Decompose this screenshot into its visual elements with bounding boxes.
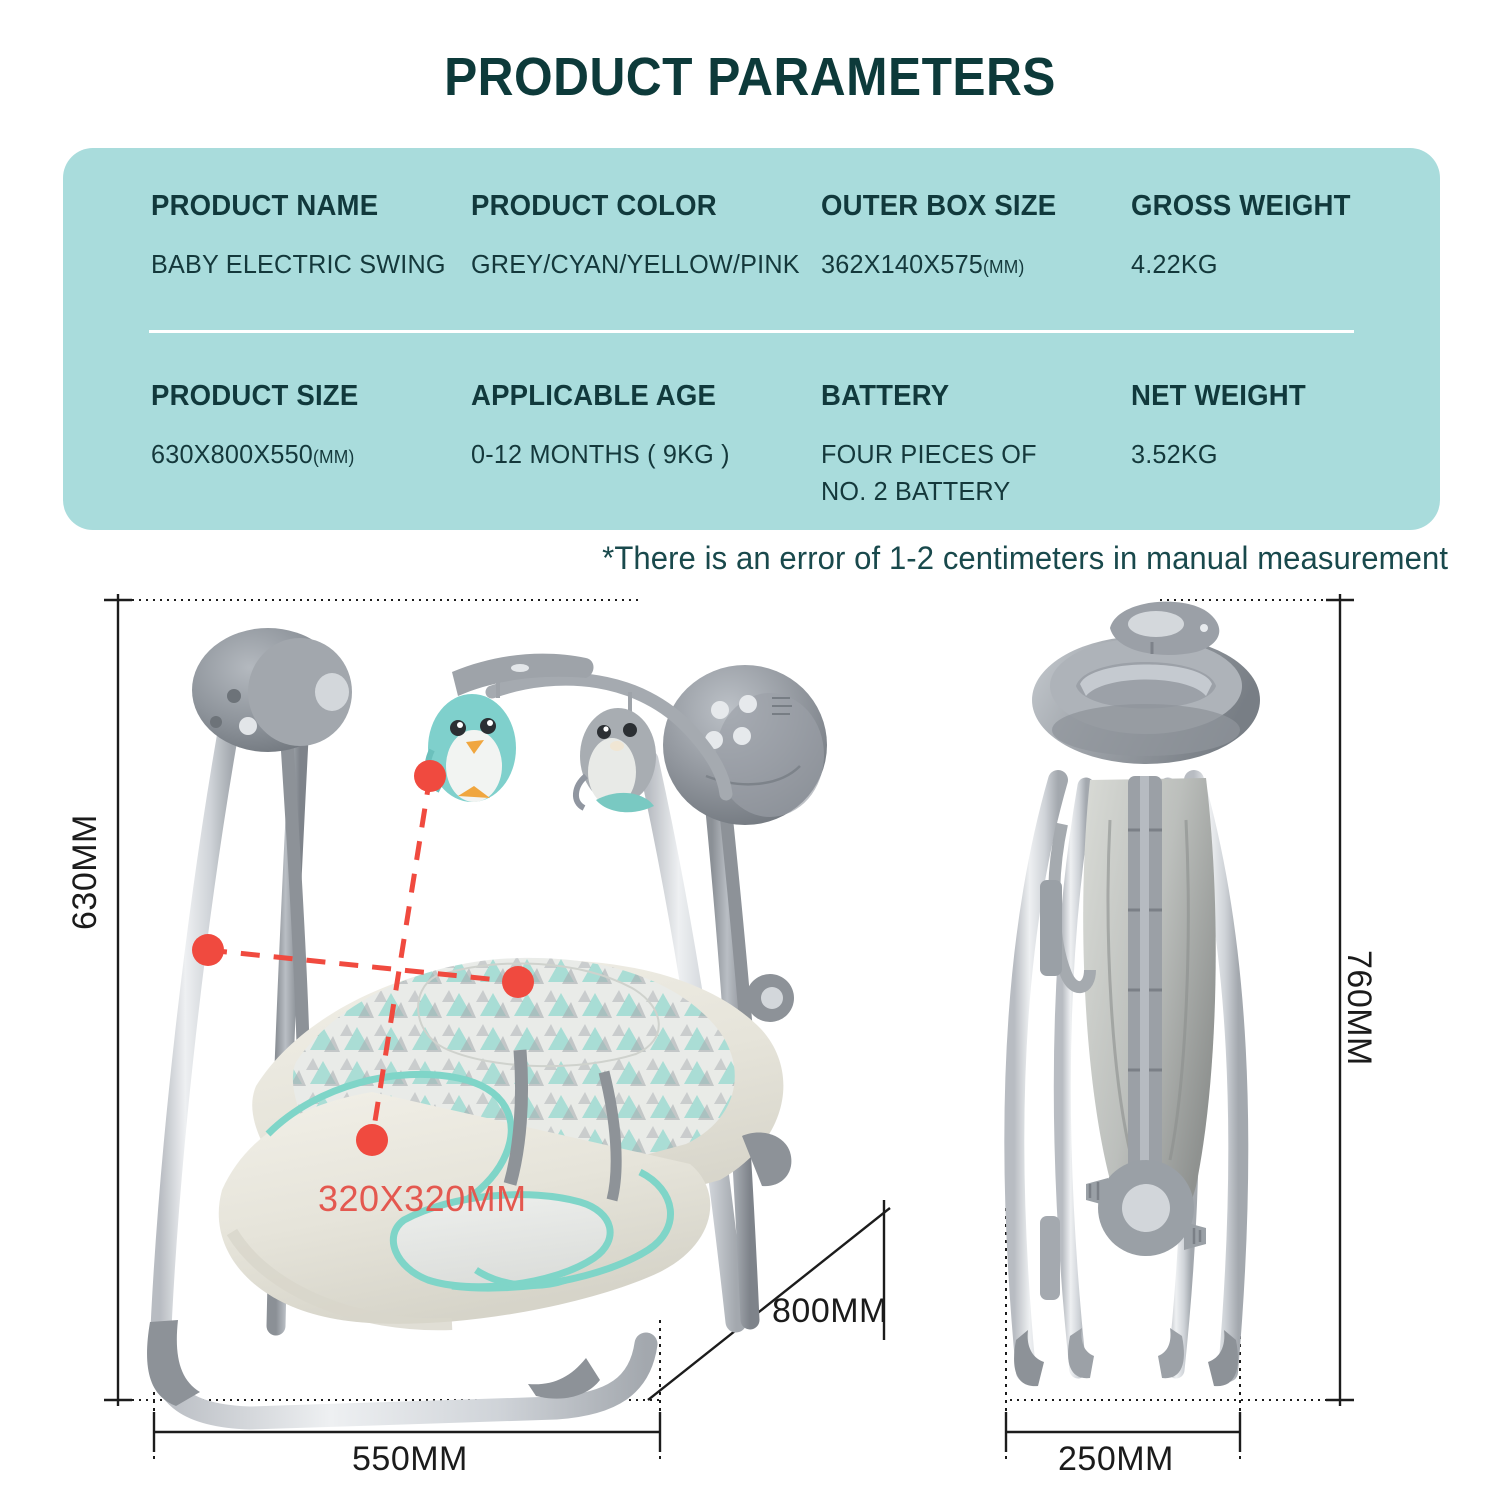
spec-header: PRODUCT SIZE — [151, 380, 455, 413]
product-diagram — [0, 580, 1500, 1500]
baby-swing-open-view — [147, 628, 827, 1418]
spec-cell-outer-box-size: OUTER BOX SIZE 362X140X575(MM) — [821, 190, 1131, 283]
spec-value: 4.22KG — [1131, 246, 1422, 283]
measure-point — [502, 966, 534, 998]
dimension-label-height-left: 630MM — [66, 814, 105, 930]
dimension-label-depth: 800MM — [772, 1292, 888, 1331]
spec-header: NET WEIGHT — [1131, 380, 1416, 413]
spec-header: OUTER BOX SIZE — [821, 190, 1116, 223]
spec-value: 0-12 MONTHS ( 9KG ) — [471, 436, 811, 473]
dimension-label-height-right: 760MM — [1339, 950, 1378, 1066]
spec-value: 630X800X550(MM) — [151, 436, 461, 473]
spec-header: GROSS WEIGHT — [1131, 190, 1416, 223]
spec-panel: PRODUCT NAME BABY ELECTRIC SWING PRODUCT… — [63, 148, 1440, 530]
spec-value: 3.52KG — [1131, 436, 1422, 473]
spec-value: GREY/CYAN/YELLOW/PINK — [471, 246, 811, 283]
right-motor-housing — [663, 665, 827, 825]
measure-point — [192, 934, 224, 966]
spec-value: BABY ELECTRIC SWING — [151, 246, 461, 283]
spec-value-line1: FOUR PIECES OF — [821, 436, 1122, 473]
measurement-disclaimer: *There is an error of 1-2 centimeters in… — [602, 540, 1448, 577]
dimension-label-width-left: 550MM — [352, 1440, 468, 1479]
spec-value: 362X140X575(MM) — [821, 246, 1122, 283]
spec-value: FOUR PIECES OF NO. 2 BATTERY — [821, 436, 1122, 510]
spec-header: PRODUCT NAME — [151, 190, 455, 223]
spec-cell-product-name: PRODUCT NAME BABY ELECTRIC SWING — [151, 190, 471, 283]
row-divider — [149, 330, 1354, 333]
spec-value-line2: NO. 2 BATTERY — [821, 473, 1122, 510]
folded-motor-pod — [1032, 636, 1260, 764]
dimension-label-width-right: 250MM — [1058, 1440, 1174, 1479]
spec-header: PRODUCT COLOR — [471, 190, 804, 223]
measure-point — [356, 1124, 388, 1156]
spec-unit: (MM) — [313, 447, 354, 467]
product-parameters-infographic: PRODUCT PARAMETERS PRODUCT NAME BABY ELE… — [0, 0, 1500, 1500]
spec-header: APPLICABLE AGE — [471, 380, 804, 413]
spec-cell-net-weight: NET WEIGHT 3.52KG — [1131, 380, 1431, 473]
measure-point — [414, 760, 446, 792]
spec-cell-gross-weight: GROSS WEIGHT 4.22KG — [1131, 190, 1431, 283]
spec-unit: (MM) — [983, 257, 1024, 277]
left-pivot-hub — [192, 628, 352, 752]
spec-cell-product-size: PRODUCT SIZE 630X800X550(MM) — [151, 380, 471, 473]
dimension-label-seat-area: 320X320MM — [318, 1178, 527, 1220]
spec-cell-product-color: PRODUCT COLOR GREY/CYAN/YELLOW/PINK — [471, 190, 821, 283]
spec-cell-applicable-age: APPLICABLE AGE 0-12 MONTHS ( 9KG ) — [471, 380, 821, 473]
baby-swing-folded-front-view — [1014, 602, 1260, 1387]
spec-cell-battery: BATTERY FOUR PIECES OF NO. 2 BATTERY — [821, 380, 1131, 510]
page-title: PRODUCT PARAMETERS — [60, 46, 1440, 108]
seal-toy — [576, 692, 656, 812]
spec-header: BATTERY — [821, 380, 1116, 413]
